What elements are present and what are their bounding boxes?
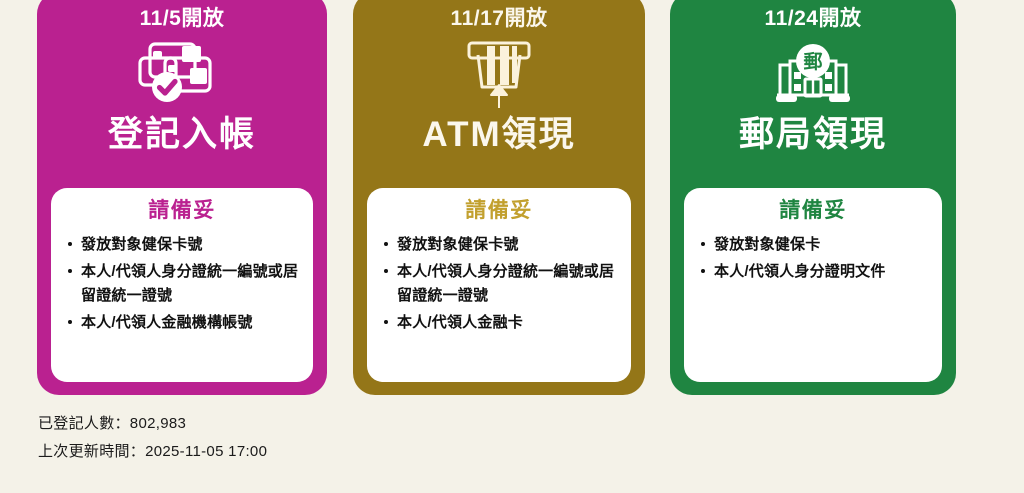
card-title: 郵局領現 <box>739 117 887 154</box>
requirements-panel: 請備妥 發放對象健保卡號 本人/代領人身分證統一編號或居留證統一證號 本人/代領… <box>367 188 631 382</box>
footer-stats: 已登記人數：802,983 上次更新時間：2025-11-05 17:00 <box>38 410 267 466</box>
card-title: 登記入帳 <box>108 117 256 154</box>
requirements-panel: 請備妥 發放對象健保卡號 本人/代領人身分證統一編號或居留證統一證號 本人/代領… <box>51 188 313 382</box>
list-item: 本人/代領人身分證統一編號或居留證統一證號 <box>81 260 301 307</box>
requirements-list: 發放對象健保卡 本人/代領人身分證明文件 <box>686 233 940 284</box>
list-item: 發放對象健保卡號 <box>397 233 619 256</box>
post-office-icon: 郵 <box>774 39 852 109</box>
card-atm-withdraw[interactable]: 11/17開放 ATM領現 請備妥 發放對象健保卡號 本人/代領人身分證統一編號… <box>353 0 645 395</box>
card-date-label: 11/5開放 <box>140 8 225 29</box>
list-item: 本人/代領人身分證統一編號或居留證統一證號 <box>397 260 619 307</box>
registered-count: 已登記人數：802,983 <box>38 410 267 438</box>
card-date-label: 11/24開放 <box>765 8 862 29</box>
card-date-label: 11/17開放 <box>451 8 548 29</box>
panel-title: 請備妥 <box>369 198 629 223</box>
list-item: 發放對象健保卡 <box>714 233 930 256</box>
list-item: 本人/代領人身分證明文件 <box>714 260 930 283</box>
atm-slot-icon <box>462 39 536 109</box>
list-item: 本人/代領人金融卡 <box>397 311 619 334</box>
cards-check-icon <box>136 39 228 109</box>
requirements-panel: 請備妥 發放對象健保卡 本人/代領人身分證明文件 <box>684 188 942 382</box>
card-register-deposit[interactable]: 11/5開放 登記入帳 請備妥 發放對象健保卡號 本人/代領 <box>37 0 327 395</box>
requirements-list: 發放對象健保卡號 本人/代領人身分證統一編號或居留證統一證號 本人/代領人金融卡 <box>369 233 629 334</box>
list-item: 發放對象健保卡號 <box>81 233 301 256</box>
panel-title: 請備妥 <box>686 198 940 223</box>
last-updated: 上次更新時間：2025-11-05 17:00 <box>38 438 267 466</box>
svg-text:郵: 郵 <box>803 51 822 73</box>
panel-title: 請備妥 <box>53 198 311 223</box>
promo-stage: 11/5開放 登記入帳 請備妥 發放對象健保卡號 本人/代領 <box>0 0 1024 493</box>
list-item: 本人/代領人金融機構帳號 <box>81 311 301 334</box>
card-post-office-withdraw[interactable]: 11/24開放 郵 <box>670 0 956 395</box>
card-title: ATM領現 <box>422 117 575 154</box>
requirements-list: 發放對象健保卡號 本人/代領人身分證統一編號或居留證統一證號 本人/代領人金融機… <box>53 233 311 334</box>
